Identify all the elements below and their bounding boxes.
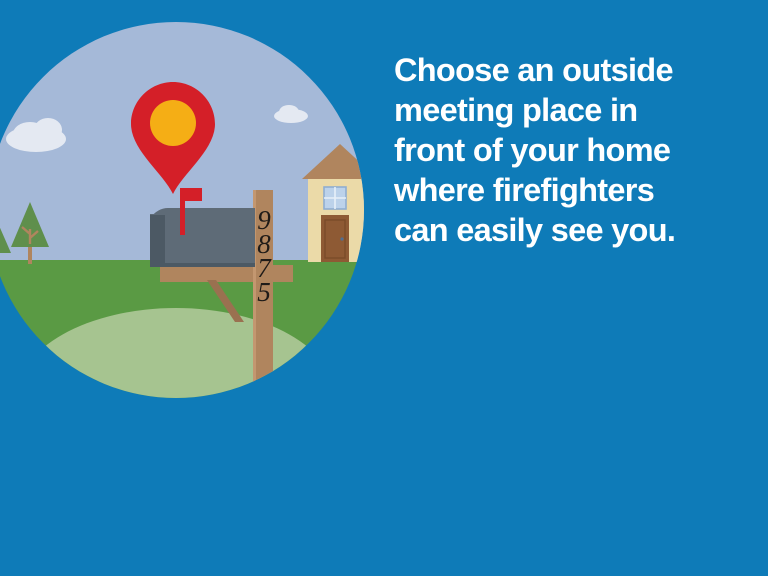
headline-line-2: meeting place in [394, 90, 730, 130]
headline-line-4: where firefighters [394, 170, 730, 210]
headline-line-5: can easily see you. [394, 210, 730, 250]
house-number-digit: 5 [257, 277, 271, 307]
house-number: 9 8 7 5 [257, 205, 272, 307]
headline-line-1: Choose an outside [394, 50, 730, 90]
illustration-mailbox-scene: 9 8 7 5 [0, 22, 364, 398]
illustration-svg: 9 8 7 5 [0, 22, 364, 398]
footer-logos: FEMA [0, 466, 768, 576]
mailbox [150, 208, 255, 267]
headline: Choose an outside meeting place in front… [394, 50, 730, 250]
headline-line-3: front of your home [394, 130, 730, 170]
